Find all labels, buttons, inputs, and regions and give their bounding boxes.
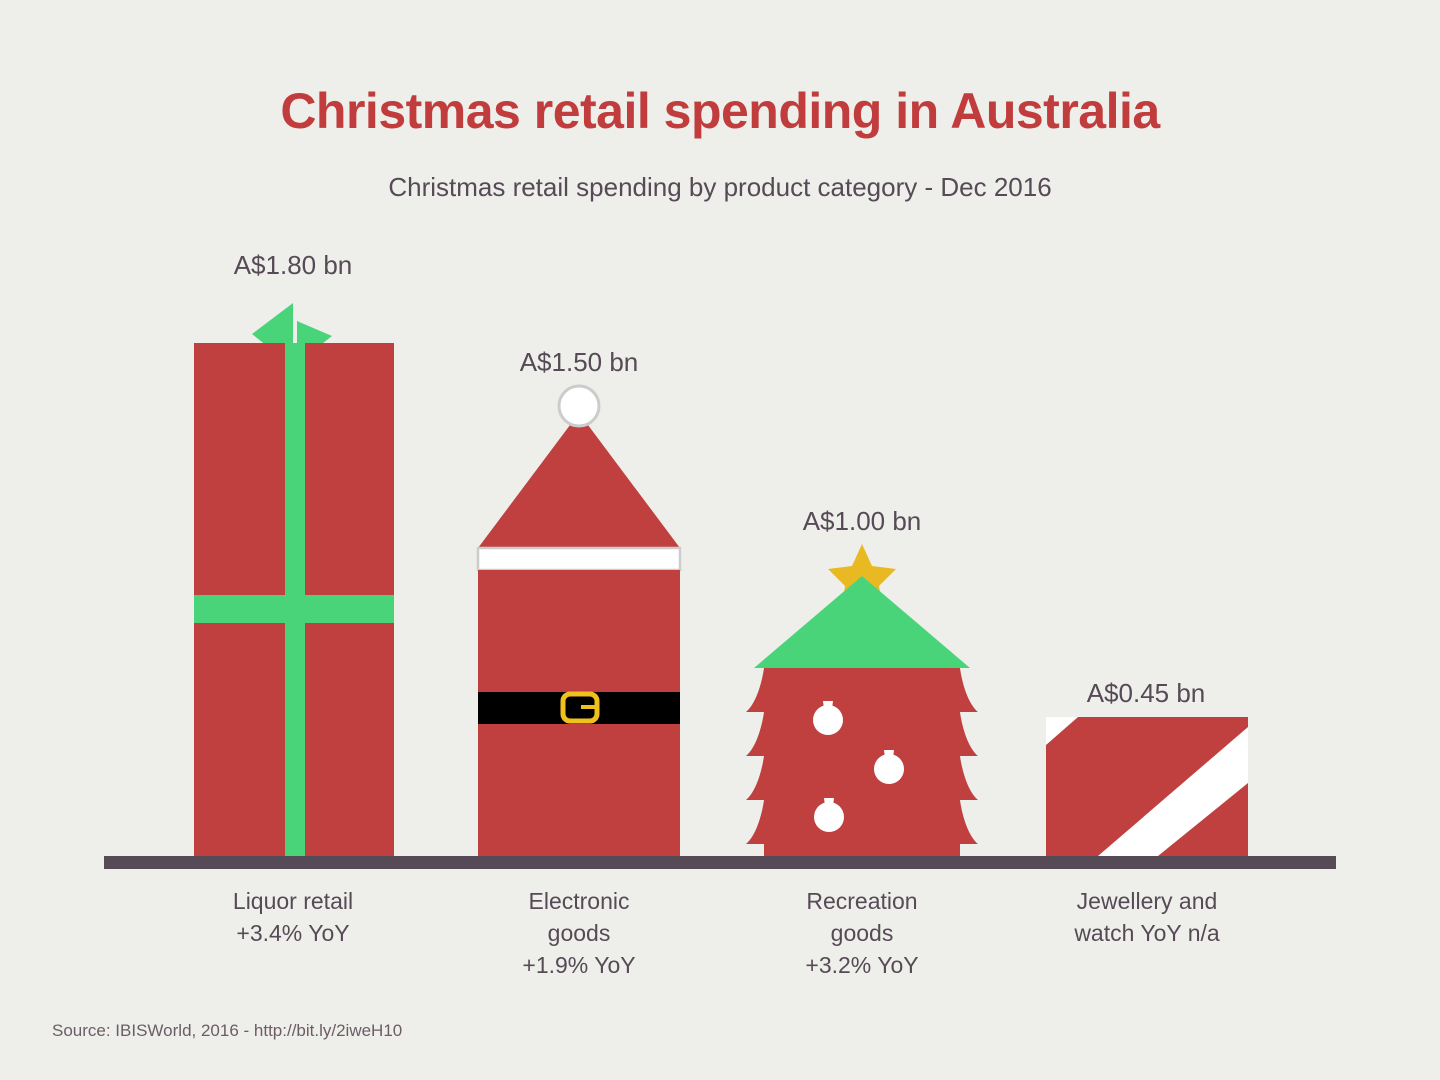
infographic-chart: Christmas retail spending in Australia C… (0, 0, 1440, 1080)
page-title: Christmas retail spending in Australia (0, 82, 1440, 140)
category-label-line1: Jewellery and (1017, 885, 1277, 917)
value-label-recreation-goods: A$1.00 bn (762, 506, 962, 537)
santa-icon (478, 381, 680, 856)
santa-pompom (559, 386, 599, 426)
category-label-line3: +3.2% YoY (732, 949, 992, 981)
category-label-line2: goods (449, 917, 709, 949)
gift-ribbon-horizontal (194, 595, 394, 623)
tree-body (746, 668, 978, 856)
jewellery-box-icon (1046, 717, 1248, 856)
source-note: Source: IBISWorld, 2016 - http://bit.ly/… (52, 1021, 402, 1041)
tree-canopy (754, 576, 970, 668)
value-label-liquor-retail: A$1.80 bn (193, 250, 393, 281)
page-subtitle: Christmas retail spending by product cat… (0, 172, 1440, 203)
category-label-liquor-retail: Liquor retail +3.4% YoY (163, 885, 423, 949)
axis-baseline (104, 856, 1336, 869)
category-label-recreation-goods: Recreation goods +3.2% YoY (732, 885, 992, 981)
category-label-electronic-goods: Electronic goods +1.9% YoY (449, 885, 709, 981)
gift-box-icon (194, 296, 394, 857)
value-label-electronic-goods: A$1.50 bn (478, 347, 680, 378)
category-label-line2: +3.4% YoY (163, 917, 423, 949)
category-label-jewellery-and-watch: Jewellery and watch YoY n/a (1017, 885, 1277, 949)
santa-belt-buckle-prong (581, 705, 595, 709)
value-label-jewellery-and-watch: A$0.45 bn (1046, 678, 1246, 709)
santa-hat (478, 413, 680, 548)
santa-hat-brim (478, 548, 680, 570)
category-label-line1: Recreation (732, 885, 992, 917)
christmas-tree-icon (738, 540, 986, 858)
category-label-line1: Electronic (449, 885, 709, 917)
category-label-line1: Liquor retail (163, 885, 423, 917)
category-label-line3: +1.9% YoY (449, 949, 709, 981)
category-label-line2: goods (732, 917, 992, 949)
category-label-line2: watch YoY n/a (1017, 917, 1277, 949)
